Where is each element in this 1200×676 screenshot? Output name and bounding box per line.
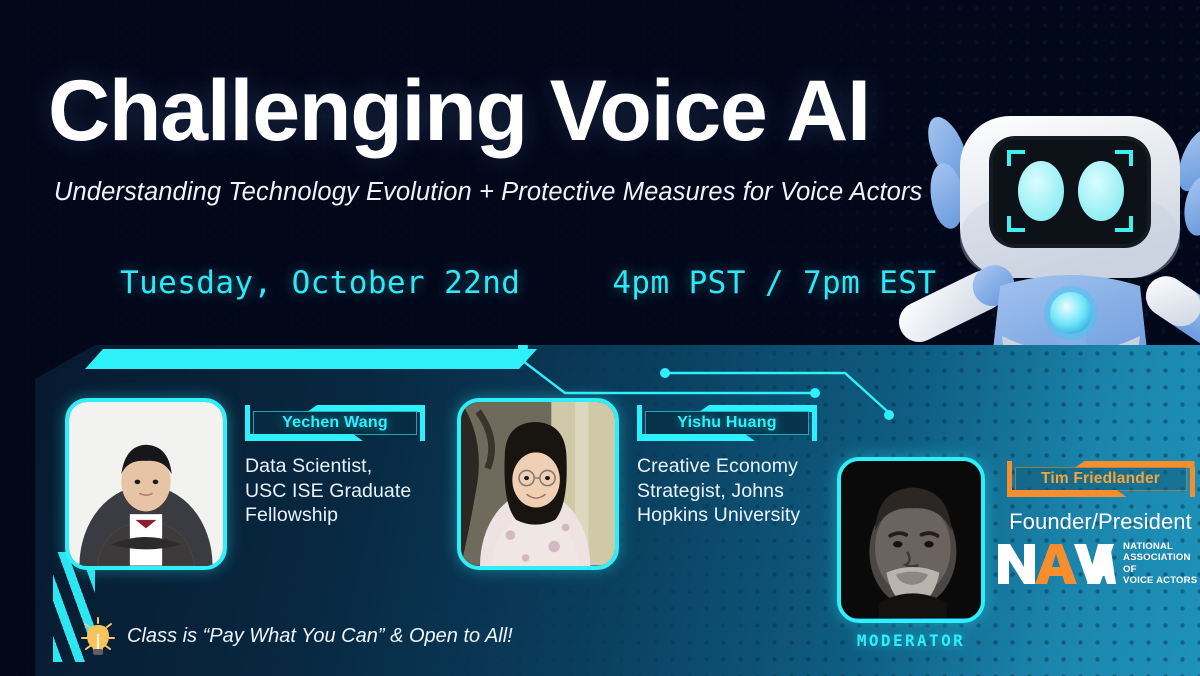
nava-logo: NATIONAL ASSOCIATION OF VOICE ACTORS — [998, 541, 1200, 586]
footer-note-text: Class is “Pay What You Can” & Open to Al… — [127, 625, 513, 648]
speaker-name-badge-2: Yishu Huang — [637, 405, 817, 441]
badge-tick-left — [637, 405, 642, 435]
speaker-role-1: Data Scientist, USC ISE Graduate Fellows… — [245, 454, 450, 528]
nava-tagline-line2: ASSOCIATION OF — [1123, 552, 1191, 574]
nava-tagline-line1: NATIONAL — [1123, 541, 1173, 552]
speakers-panel: Yechen Wang Data Scientist, USC ISE Grad… — [35, 345, 1200, 676]
badge-plate: Yishu Huang — [645, 411, 809, 435]
panel-accent-bar — [85, 349, 537, 369]
speaker-role-2: Creative Economy Strategist, Johns Hopki… — [637, 454, 842, 528]
moderator-photo — [837, 457, 985, 623]
speaker-name-2: Yishu Huang — [677, 414, 776, 432]
nava-wordmark-icon — [998, 542, 1116, 586]
speaker-card-2: Yishu Huang Creative Economy Strategist,… — [457, 398, 842, 570]
lightbulb-icon — [80, 616, 116, 656]
badge-tick-left — [1007, 461, 1012, 491]
badge-bar-bottom — [1007, 490, 1127, 497]
speaker-name-badge-1: Yechen Wang — [245, 405, 425, 441]
moderator-name-badge: Tim Friedlander — [1007, 461, 1195, 497]
event-date: Tuesday, October 22nd — [120, 265, 520, 301]
speaker-photo-2 — [457, 398, 619, 570]
footer-note: Class is “Pay What You Can” & Open to Al… — [80, 616, 513, 656]
badge-plate: Tim Friedlander — [1015, 467, 1187, 491]
event-time: 4pm PST / 7pm EST — [612, 265, 936, 301]
badge-bar-bottom — [637, 434, 755, 441]
badge-bar-bottom — [245, 434, 363, 441]
event-meta: Tuesday, October 22nd 4pm PST / 7pm EST — [120, 265, 936, 301]
moderator-name: Tim Friedlander — [1041, 470, 1160, 488]
badge-plate: Yechen Wang — [253, 411, 417, 435]
speaker-name-1: Yechen Wang — [282, 414, 388, 432]
badge-tick-right — [812, 411, 817, 441]
moderator-info: Tim Friedlander Founder/President — [998, 461, 1200, 586]
moderator-label: MODERATOR — [837, 631, 985, 650]
page-title: Challenging Voice AI — [48, 68, 870, 154]
badge-tick-right — [1190, 467, 1195, 497]
nava-tagline-line3: VOICE ACTORS — [1123, 575, 1197, 586]
badge-tick-right — [420, 411, 425, 441]
speaker-photo-1 — [65, 398, 227, 570]
page-subtitle: Understanding Technology Evolution + Pro… — [54, 178, 922, 207]
moderator-card: MODERATOR — [837, 457, 985, 650]
badge-tick-left — [245, 405, 250, 435]
speaker-card-1: Yechen Wang Data Scientist, USC ISE Grad… — [65, 398, 450, 570]
moderator-role: Founder/President — [998, 509, 1200, 535]
poster-canvas: Challenging Voice AI Understanding Techn… — [0, 0, 1200, 676]
nava-tagline: NATIONAL ASSOCIATION OF VOICE ACTORS — [1123, 541, 1200, 586]
